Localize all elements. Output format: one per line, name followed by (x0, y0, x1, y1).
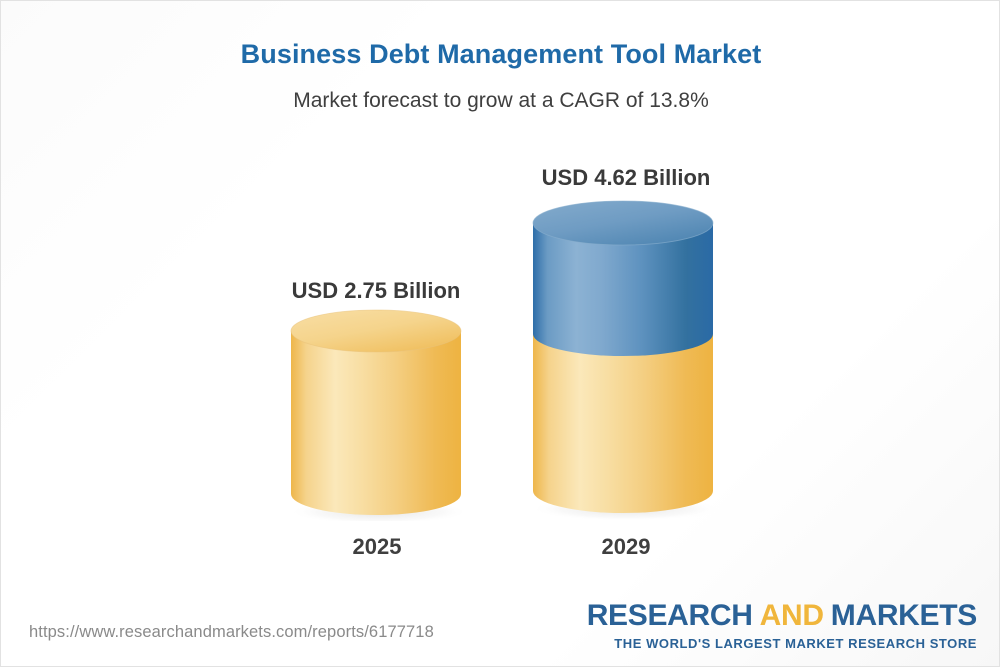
infographic-canvas: Business Debt Management Tool Market Mar… (0, 0, 1000, 667)
source-url[interactable]: https://www.researchandmarkets.com/repor… (29, 623, 434, 642)
bar-category-label-2029: 2029 (506, 534, 746, 560)
research-and-markets-logo[interactable]: RESEARCHANDMARKETS THE WORLD'S LARGEST M… (587, 601, 977, 650)
logo-word-and: AND (760, 599, 824, 632)
bar-value-label-2025: USD 2.75 Billion (256, 278, 496, 304)
bar-category-label-2025: 2025 (257, 534, 497, 560)
chart-plot-area: USD 2.75 Billion (1, 1, 1000, 667)
logo-word-markets: MARKETS (831, 599, 977, 632)
bar-value-label-2029: USD 4.62 Billion (506, 165, 746, 191)
logo-wordmark: RESEARCHANDMARKETS (587, 601, 977, 631)
bar-cylinder-2029 (529, 199, 721, 521)
logo-word-research: RESEARCH (587, 599, 753, 632)
bar-cylinder-2025 (287, 309, 467, 521)
logo-tagline: THE WORLD'S LARGEST MARKET RESEARCH STOR… (587, 637, 977, 650)
